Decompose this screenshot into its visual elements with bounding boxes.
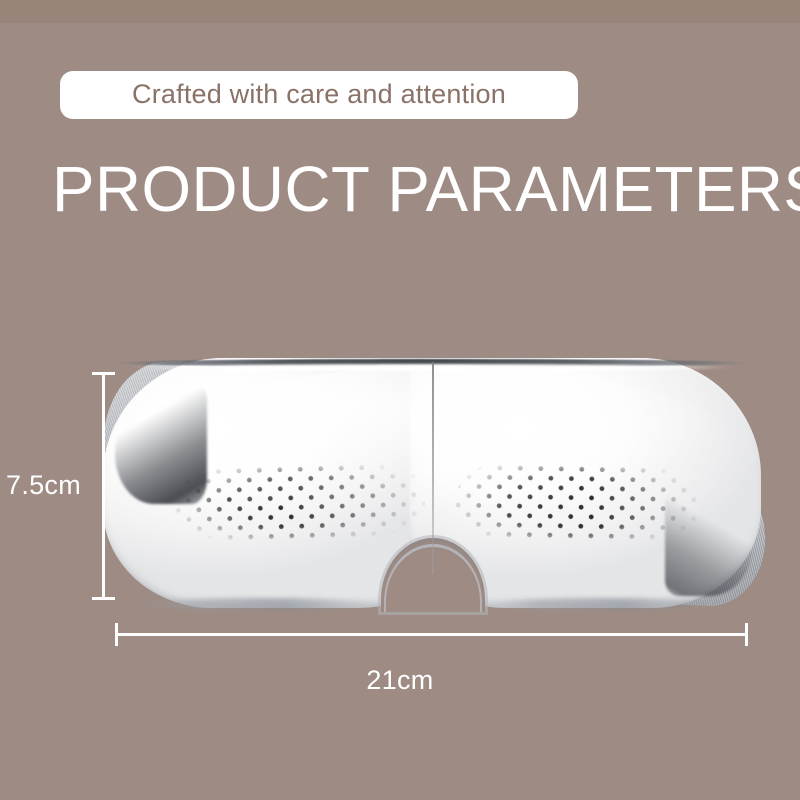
tagline-badge: Crafted with care and attention	[60, 71, 578, 119]
top-edge-band	[0, 0, 800, 23]
width-cap-right	[745, 623, 748, 646]
product-image	[0, 330, 800, 630]
right-strap-shadow	[665, 492, 753, 596]
height-dimension-line	[102, 372, 105, 600]
bottom-rim-edge-left	[137, 598, 387, 610]
tagline-text: Crafted with care and attention	[132, 79, 506, 110]
bottom-rim-edge-right	[477, 598, 727, 610]
width-dimension-label: 21cm	[0, 665, 800, 696]
left-perforation-grid	[174, 463, 426, 546]
center-seam-line	[432, 362, 434, 574]
height-cap-bottom	[92, 597, 115, 600]
page-title: PRODUCT PARAMETERS	[52, 152, 788, 226]
width-dimension-line	[115, 633, 748, 636]
height-cap-top	[92, 372, 115, 375]
eye-massager-body	[103, 358, 761, 608]
width-cap-left	[115, 623, 118, 646]
height-dimension-label: 7.5cm	[6, 470, 81, 501]
product-parameters-slide: Crafted with care and attention PRODUCT …	[0, 0, 800, 800]
